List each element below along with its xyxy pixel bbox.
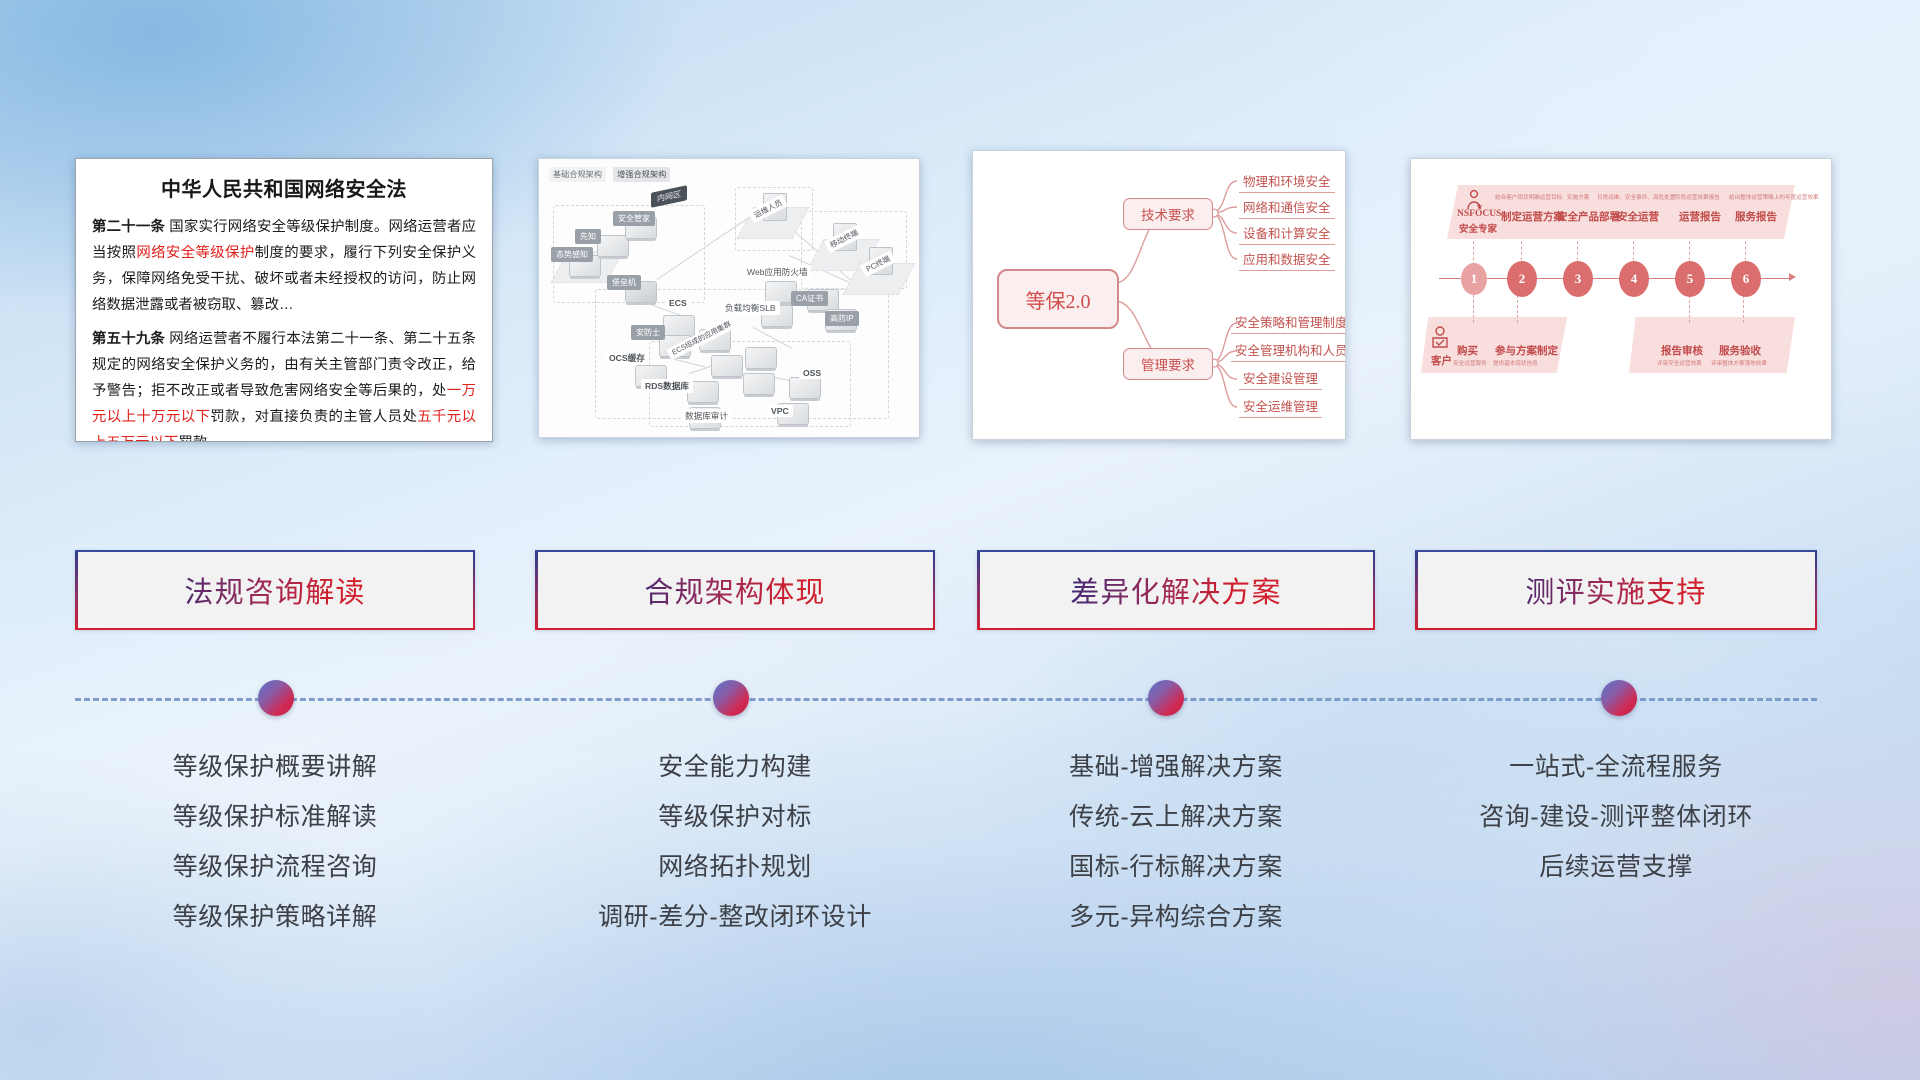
person-check-icon [1429,325,1451,351]
list-item: 等级保护对标 [535,792,935,842]
list-item: 等级保护策略详解 [75,892,475,942]
architecture-node-label: 堡垒机 [607,275,641,290]
law-text: 罚款。 [178,435,221,442]
timeline-customer-name: 客户 [1431,353,1452,368]
list-item: 等级保护标准解读 [75,792,475,842]
list-item: 调研-差分-整改闭环设计 [535,892,935,942]
section-items-3: 基础-增强解决方案 传统-云上解决方案 国标-行标解决方案 多元-异构综合方案 [977,742,1375,942]
timeline-node-1[interactable] [258,680,294,716]
timeline-step-main: 参与方案制定 [1495,343,1558,358]
architecture-node-label: VPC [767,405,793,417]
law-text: 罚款，对直接负责的主管人员处 [210,409,417,425]
headline-label: 法规咨询解读 [75,550,475,630]
timeline-top-step-main: 运营报告 [1679,209,1721,224]
list-item: 等级保护概要讲解 [75,742,475,792]
list-item: 后续运营支撑 [1415,842,1817,892]
headline-label: 测评实施支持 [1415,550,1817,630]
timeline-axis-arrow [1789,273,1796,281]
architecture-node-label: 负载均衡SLB [721,301,780,315]
architecture-node-label: OCS缓存 [605,351,649,365]
architecture-node-label: RDS数据库 [641,379,693,393]
timeline-node-2[interactable] [713,680,749,716]
mindmap-root: 等保2.0 [997,269,1119,329]
card-service-timeline: ★ NSFOCUS 安全专家 结合客户现状明确运营目标 制定运营方案 实施方案 … [1410,158,1832,440]
list-item: 多元-异构综合方案 [977,892,1375,942]
mindmap-leaf: 安全策略和管理制度 [1231,312,1346,334]
architecture-node-label: 安防士 [631,325,665,340]
law-body: 第二十一条 国家实行网络安全等级保护制度。网络运营者应当按照网络安全等级保护制度… [76,214,492,442]
timeline-top-step-main: 安全产品部署 [1557,209,1620,224]
timeline-step-main: 服务验收 [1719,343,1761,358]
card-mindmap: 等保2.0 技术要求 管理要求 物理和环境安全 网络和通信安全 设备和计算安全 … [972,150,1346,440]
architecture-node-label: ECS [665,297,691,309]
law-text-highlight: 网络安全等级保护 [136,245,254,261]
law-article-number: 第二十一条 [92,219,165,235]
law-paragraph: 第五十九条 网络运营者不履行本法第二十一条、第二十五条规定的网络安全保护义务的，… [92,326,476,442]
headline-label: 差异化解决方案 [977,550,1375,630]
architecture-node-label: OSS [799,367,825,379]
timeline-step-dot: 3 [1563,261,1593,297]
timeline-top-step-sub: 阶段运营效果报告 [1675,193,1720,201]
architecture-node-label: 先知 [575,229,601,244]
mindmap-leaf: 应用和数据安全 [1239,249,1335,271]
timeline-top-step-sub: 给出整体运营策略上的年度运营效果 [1729,193,1819,201]
headline-box-3[interactable]: 差异化解决方案 [977,550,1375,630]
timeline-actor-name-line1: NSFOCUS [1457,209,1501,219]
law-title: 中华人民共和国网络安全法 [76,173,492,202]
architecture-tab-basic[interactable]: 基础合规架构 [549,167,606,182]
section-items-1: 等级保护概要讲解 等级保护标准解读 等级保护流程咨询 等级保护策略详解 [75,742,475,942]
list-item: 基础-增强解决方案 [977,742,1375,792]
section-items-2: 安全能力构建 等级保护对标 网络拓扑规划 调研-差分-整改闭环设计 [535,742,935,942]
headline-box-1[interactable]: 法规咨询解读 [75,550,475,630]
timeline-step-main: 报告审核 [1661,343,1703,358]
list-item: 国标-行标解决方案 [977,842,1375,892]
headline-label: 合规架构体现 [535,550,935,630]
section-items-4: 一站式-全流程服务 咨询-建设-测评整体闭环 后续运营支撑 [1415,742,1817,892]
mindmap-leaf: 网络和通信安全 [1239,197,1335,219]
timeline-dashed-line [75,698,1817,701]
list-item: 等级保护流程咨询 [75,842,475,892]
architecture-node-label: CA证书 [791,291,828,306]
law-paragraph: 第二十一条 国家实行网络安全等级保护制度。网络运营者应当按照网络安全等级保护制度… [92,214,476,318]
timeline-step-sub: 评审安全运营效果 [1657,359,1702,367]
timeline-actor-name-line2: 安全专家 [1459,221,1497,235]
mindmap-leaf: 安全运维管理 [1239,396,1322,418]
mindmap-leaf: 安全建设管理 [1239,368,1322,390]
architecture-node-label: 态势感知 [551,247,593,262]
architecture-tabs: 基础合规架构 增强合规架构 [549,167,670,182]
architecture-node-label: 高防IP [825,311,859,326]
timeline-node-3[interactable] [1148,680,1184,716]
architecture-node-label: 数据库审计 [681,409,732,423]
law-article-number: 第五十九条 [92,331,165,347]
timeline-top-step-main: 制定运营方案 [1501,209,1564,224]
headline-box-2[interactable]: 合规架构体现 [535,550,935,630]
list-item: 咨询-建设-测评整体闭环 [1415,792,1817,842]
card-architecture-diagram: 基础合规架构 增强合规架构 [538,158,920,438]
mindmap-leaf: 物理和环境安全 [1239,171,1335,193]
timeline-step-dot: 5 [1675,261,1705,297]
timeline-step-dot: 1 [1461,263,1487,295]
list-item: 一站式-全流程服务 [1415,742,1817,792]
timeline-step-main: 购买 [1457,343,1478,358]
card-law-text: 中华人民共和国网络安全法 第二十一条 国家实行网络安全等级保护制度。网络运营者应… [75,158,493,442]
architecture-tab-enhanced[interactable]: 增强合规架构 [613,167,670,182]
timeline-step-sub: 评审整体方案落地效果 [1711,359,1767,367]
timeline-step-sub: 安全运营服务 [1453,359,1487,367]
mindmap-leaf: 安全管理机构和人员 [1231,340,1346,362]
mindmap-branch-management: 管理要求 [1123,348,1213,380]
list-item: 传统-云上解决方案 [977,792,1375,842]
timeline-top-step-sub: 结合客户现状明确运营目标 [1495,193,1562,201]
timeline-node-4[interactable] [1601,680,1637,716]
timeline-top-step-sub: 实施方案 [1567,193,1589,201]
mindmap-leaf: 设备和计算安全 [1239,223,1335,245]
timeline-step-dot: 6 [1731,261,1761,297]
timeline-top-step-main: 服务报告 [1735,209,1777,224]
timeline-step-sub: 提供基本现状信息 [1493,359,1538,367]
timeline-step-dot: 2 [1507,261,1537,297]
mindmap-branch-technical: 技术要求 [1123,198,1213,230]
architecture-node-label: Web应用防火墙 [743,265,811,279]
headline-box-4[interactable]: 测评实施支持 [1415,550,1817,630]
list-item: 安全能力构建 [535,742,935,792]
timeline-step-dot: 4 [1619,261,1649,297]
list-item: 网络拓扑规划 [535,842,935,892]
timeline-top-step-sub: 日常运维、安全事件、高危处置 [1597,193,1675,201]
architecture-node-label: 安全管家 [613,211,655,226]
timeline-top-step-main: 安全运营 [1617,209,1659,224]
